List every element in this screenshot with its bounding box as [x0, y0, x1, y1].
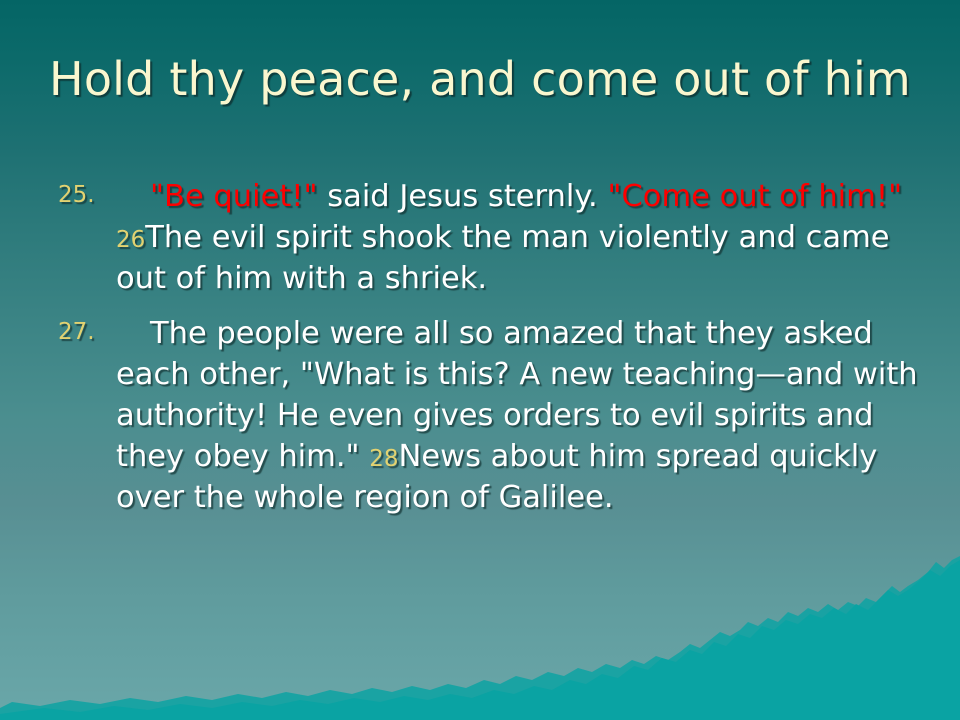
paragraph-text: The people were all so amazed that they …: [116, 313, 924, 518]
list-marker: 25.: [58, 180, 95, 211]
slide-body: 25. "Be quiet!" said Jesus sternly. "Com…: [44, 176, 924, 532]
paragraph-text: "Be quiet!" said Jesus sternly. "Come ou…: [116, 176, 924, 299]
verse-number: 26: [116, 227, 145, 253]
list-item: 27. The people were all so amazed that t…: [44, 313, 924, 518]
list-item: 25. "Be quiet!" said Jesus sternly. "Com…: [44, 176, 924, 299]
emphasis-run: "Come out of him!": [607, 179, 902, 214]
verse-number: 28: [369, 446, 398, 472]
presentation-slide: Hold thy peace, and come out of him 25. …: [0, 0, 960, 720]
body-run: The evil spirit shook the man violently …: [116, 220, 890, 296]
mountain-front-shape: [0, 560, 960, 720]
emphasis-run: "Be quiet!": [150, 179, 318, 214]
mountain-back-shape: [0, 556, 960, 720]
list-marker: 27.: [58, 317, 95, 348]
slide-title: Hold thy peace, and come out of him: [48, 53, 912, 106]
body-run: said Jesus sternly.: [318, 179, 608, 214]
